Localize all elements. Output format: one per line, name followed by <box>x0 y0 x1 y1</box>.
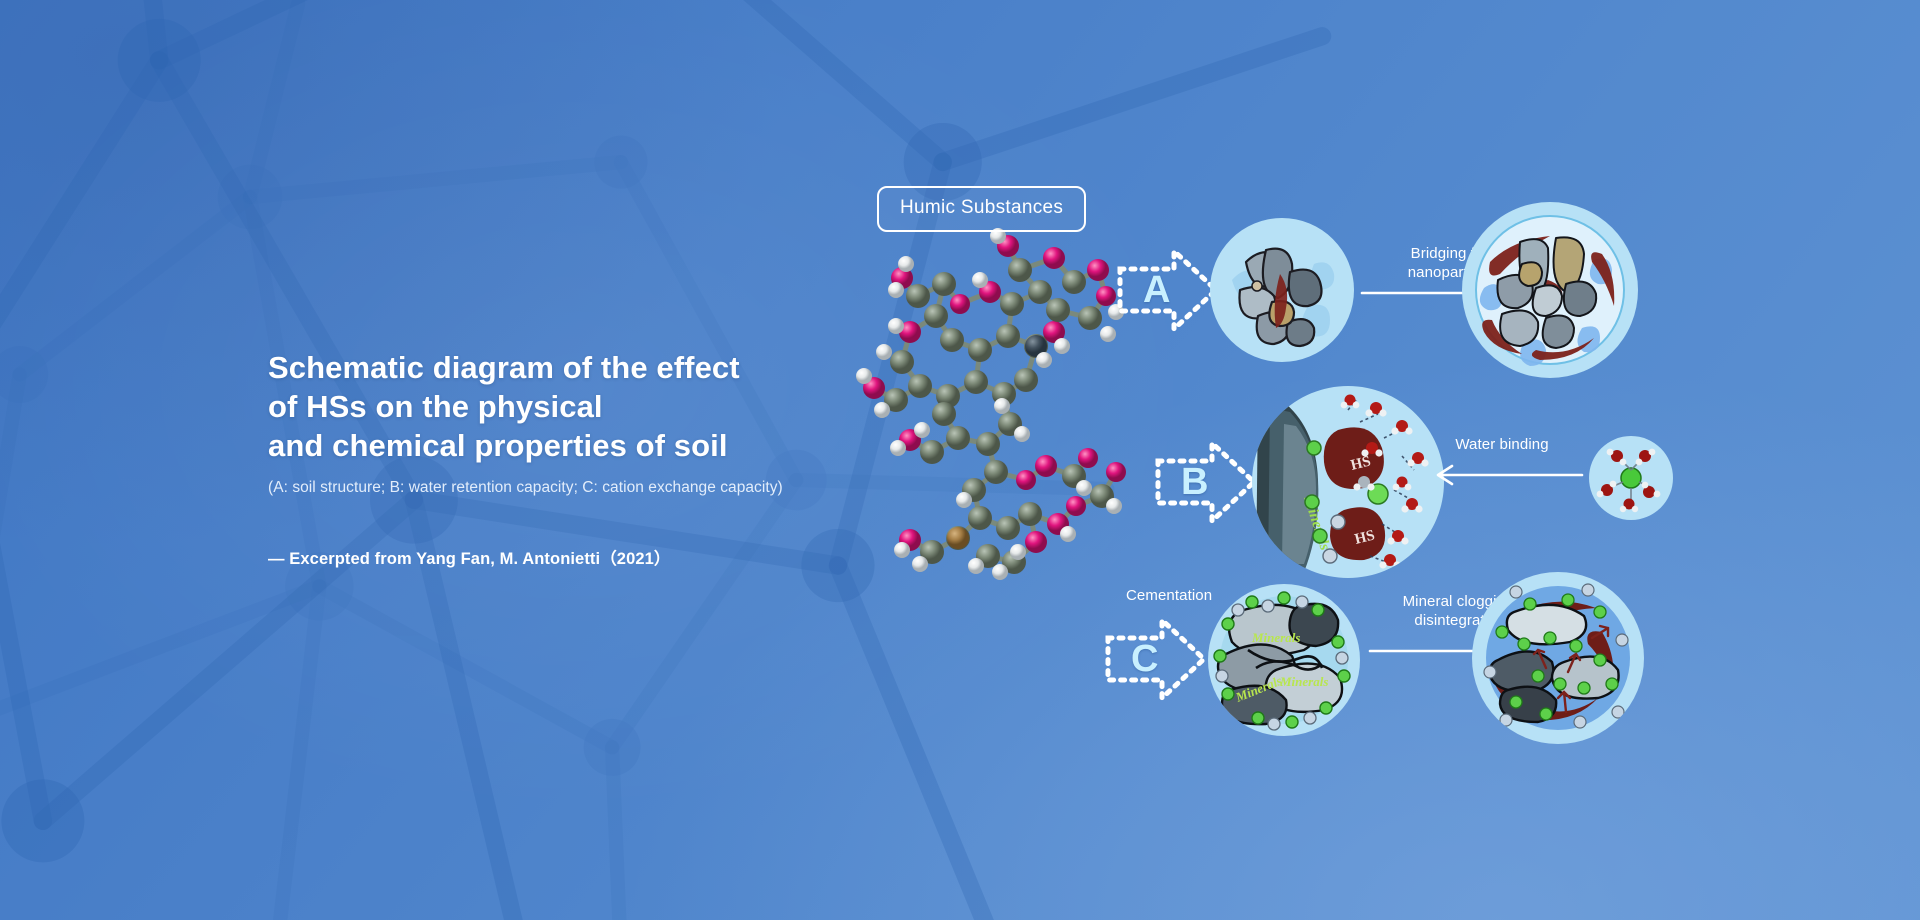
circle-cemented-mineral-clog: Minerals Minerals Minerals <box>1208 584 1360 736</box>
inline-label-minerals-1: Minerals <box>1251 630 1300 645</box>
circle-loose-mineral-particles <box>1210 218 1354 362</box>
circle-disintegrated-cation-exchange <box>1472 572 1644 744</box>
circle-hydrated-cation <box>1589 436 1673 520</box>
step-letter-c-wrap: C <box>1100 612 1212 707</box>
step-letter-c: C <box>1100 612 1212 707</box>
schematic-diagram: Humic Substances A <box>0 0 1920 920</box>
circle-hs-mineral-water-shell: Minerals HS HS <box>1252 386 1444 578</box>
step-letter-a-wrap: A <box>1112 243 1224 338</box>
label-water-binding: Water binding <box>1432 435 1572 454</box>
step-letter-a: A <box>1112 243 1224 338</box>
arrow-water-binding-left <box>1432 462 1584 488</box>
page-background: Schematic diagram of the effect of HSs o… <box>0 0 1920 920</box>
humic-substances-badge: Humic Substances <box>877 186 1086 232</box>
inline-label-minerals-2: Minerals <box>1279 674 1328 689</box>
step-letter-b-wrap: B <box>1150 435 1262 530</box>
circle-bound-soil-aggregate <box>1462 202 1638 378</box>
step-letter-b: B <box>1150 435 1262 530</box>
